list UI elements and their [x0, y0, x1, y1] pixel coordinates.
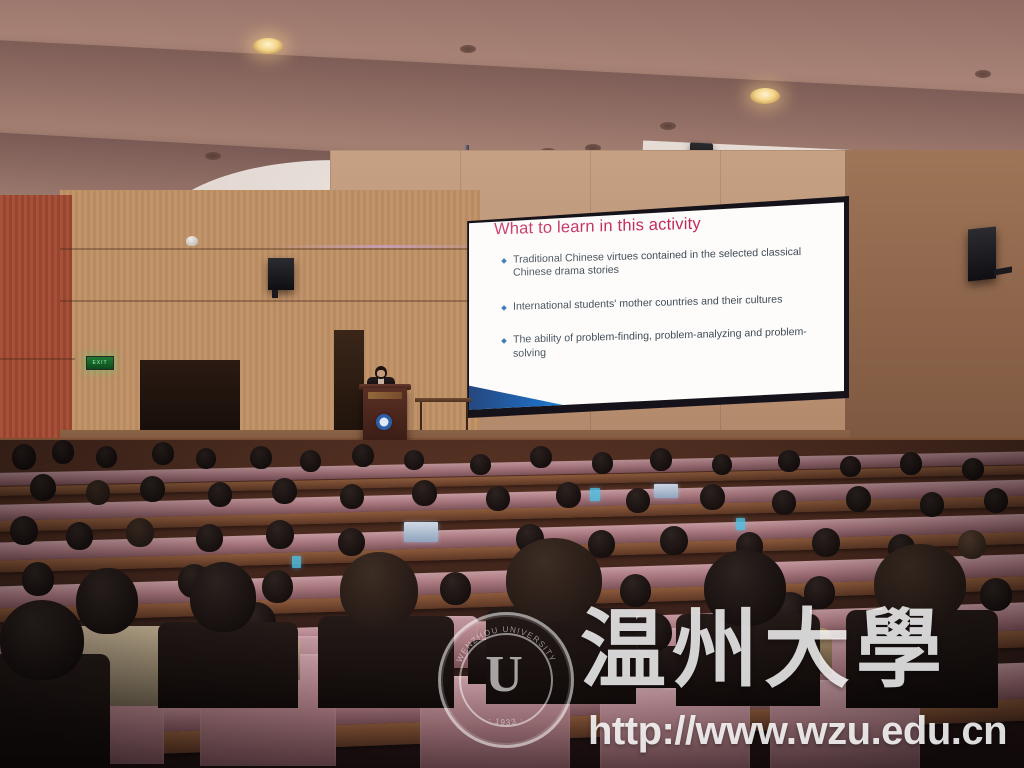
audience-head — [804, 576, 835, 609]
audience-head — [626, 488, 650, 513]
audience-head — [340, 552, 418, 628]
audience-head — [840, 456, 861, 477]
slide-bullet: International students' mother countries… — [502, 292, 824, 314]
audience-head — [126, 518, 154, 547]
audience-head — [874, 544, 966, 624]
exit-sign: EXIT — [86, 356, 114, 370]
exit-sign-label: EXIT — [87, 357, 113, 369]
phone-screen — [590, 488, 600, 501]
audience-head — [704, 550, 786, 626]
audience-torso — [158, 622, 298, 708]
audience-head — [846, 486, 871, 512]
audience-head — [650, 448, 672, 471]
side-table-leg — [420, 402, 422, 430]
audience-head — [12, 444, 36, 470]
audience-torso — [486, 608, 636, 704]
wall-speaker-right — [968, 227, 996, 282]
audience-head — [340, 484, 364, 509]
audience-head — [30, 474, 56, 501]
audience-head — [96, 446, 117, 468]
wall-panel-far-left — [0, 195, 72, 440]
audience-head — [352, 444, 374, 467]
presentation-slide: What to learn in this activity Tradition… — [466, 201, 844, 411]
audience-head — [196, 448, 216, 469]
audience-head — [920, 492, 944, 517]
audience-head — [140, 476, 165, 502]
audience-head — [208, 482, 232, 507]
lecture-hall-photo: EXIT What to learn in this activity Trad… — [0, 0, 1024, 768]
audience-torso — [846, 610, 998, 708]
presenter-face — [377, 370, 385, 377]
slide-bullet-list: Traditional Chinese virtues contained in… — [502, 245, 824, 381]
wall-seam — [0, 358, 75, 360]
audience-head — [66, 522, 93, 550]
phone-screen — [292, 556, 301, 568]
surveillance-camera-icon — [186, 236, 198, 246]
audience-head — [620, 574, 651, 607]
audience-head — [404, 450, 424, 470]
audience-head — [272, 478, 297, 504]
wall-speaker-left-bracket — [272, 290, 278, 298]
slide-bullet: Traditional Chinese virtues contained in… — [502, 245, 824, 281]
audience-head — [338, 528, 365, 556]
audience-head — [470, 454, 491, 475]
audience-head — [266, 520, 294, 549]
audience-head — [984, 488, 1008, 513]
ceiling-vent — [460, 45, 476, 53]
audience-head — [300, 450, 321, 472]
audience-head — [812, 528, 840, 557]
side-table — [415, 398, 471, 402]
wall-seam — [60, 300, 480, 302]
audience-head — [980, 578, 1012, 611]
wall-speaker-left — [268, 258, 294, 290]
wall-panel-right — [845, 150, 1024, 450]
projection-screen: What to learn in this activity Tradition… — [466, 201, 844, 411]
audience-head — [262, 570, 293, 603]
audience-seating — [0, 440, 1024, 768]
audience-head — [412, 480, 437, 506]
audience-head — [900, 452, 922, 475]
audience-head — [0, 600, 84, 680]
audience-head — [76, 568, 138, 634]
laptop-screen — [654, 484, 678, 498]
phone-screen — [736, 518, 745, 530]
audience-torso — [676, 614, 820, 706]
audience-head — [958, 530, 986, 559]
wall-seam — [60, 248, 480, 250]
ceiling-downlight — [253, 38, 283, 54]
audience-head — [962, 458, 984, 480]
podium-nameplate — [368, 392, 402, 399]
audience-head — [506, 538, 602, 622]
audience-head — [592, 452, 613, 474]
audience-head — [660, 526, 688, 555]
audience-head — [10, 516, 38, 545]
laptop-screen — [404, 522, 438, 542]
audience-head — [250, 446, 272, 469]
audience-head — [778, 450, 800, 472]
audience-head — [632, 612, 672, 652]
audience-head — [190, 562, 256, 632]
audience-head — [700, 484, 725, 510]
audience-head — [530, 446, 552, 468]
ceiling-vent — [975, 70, 991, 78]
ceiling-vent — [205, 152, 221, 160]
audience-head — [556, 482, 581, 508]
ceiling-downlight — [750, 88, 780, 104]
audience-head — [86, 480, 110, 505]
audience-head — [196, 524, 223, 552]
audience-head — [486, 486, 510, 511]
audience-head — [152, 442, 174, 465]
audience-head — [52, 440, 74, 464]
university-crest-icon — [376, 414, 392, 430]
audience-head — [772, 490, 796, 515]
wall-light-strip — [270, 245, 500, 248]
wall-panel-left — [60, 190, 480, 445]
audience-head — [712, 454, 732, 475]
ceiling-vent — [660, 122, 676, 130]
slide-bullet: The ability of problem-finding, problem-… — [502, 326, 824, 362]
side-table-leg — [466, 402, 468, 430]
audience-torso — [318, 616, 454, 708]
audience-head — [22, 562, 54, 596]
audience-head — [440, 572, 471, 605]
